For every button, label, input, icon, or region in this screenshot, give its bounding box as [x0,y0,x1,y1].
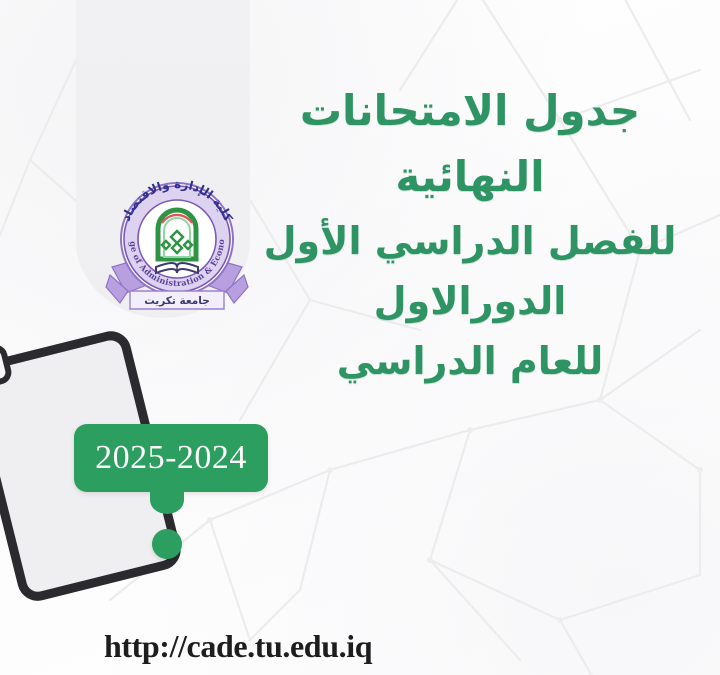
headline-line-1: جدول الامتحانات [260,78,680,144]
headline-line-4: الدورالاول [260,271,680,331]
seal-banner: جامعة تكريت [130,291,224,309]
headline-block: جدول الامتحانات النهائية للفصل الدراسي ا… [260,78,680,391]
seal-emblem-book [156,263,198,273]
university-seal-icon: كلية الإدارة والاقتصاد College of Admini… [104,163,250,318]
seal-banner-text: جامعة تكريت [144,295,210,307]
exam-schedule-poster: كلية الإدارة والاقتصاد College of Admini… [0,0,720,675]
academic-year-label: 2025-2024 [95,441,247,475]
headline-line-3: للفصل الدراسي الأول [260,211,680,271]
speech-bubble-tail-icon [150,486,184,514]
speech-bubble-dot-icon [152,529,182,559]
headline-line-2: النهائية [260,144,680,210]
academic-year-bubble: 2025-2024 [74,424,268,492]
website-url[interactable]: http://cade.tu.edu.iq [104,628,372,665]
headline-line-5: للعام الدراسي [260,331,680,391]
